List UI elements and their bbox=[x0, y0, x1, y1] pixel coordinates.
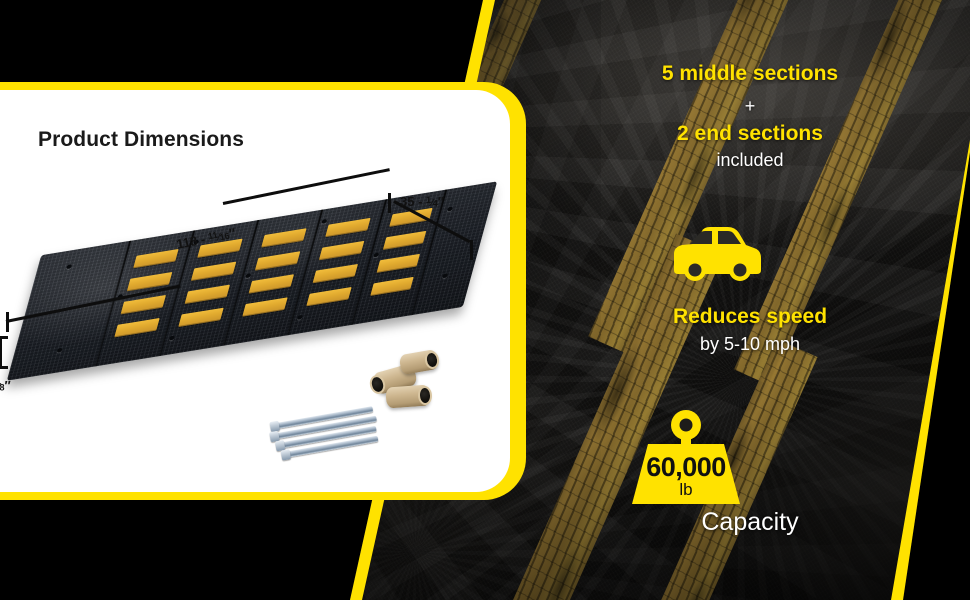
dim-label-height: 1 - 7⁄8″ bbox=[0, 378, 11, 393]
dim-length-numerator: 11 bbox=[207, 229, 218, 241]
dim-height-unit: ″ bbox=[5, 378, 11, 393]
weight-icon: 60,000 lb bbox=[620, 408, 752, 510]
dim-width-fraction: 1⁄4 bbox=[426, 196, 438, 209]
speed-headline: Reduces speed bbox=[560, 305, 940, 329]
car-icon bbox=[666, 218, 766, 288]
sections-headline-end: 2 end sections bbox=[560, 122, 940, 146]
dim-width-numerator: 1 bbox=[426, 195, 431, 205]
plus-symbol: + bbox=[560, 96, 940, 117]
infographic-canvas: Product Dimensions bbox=[0, 0, 970, 600]
dim-tick-width-right bbox=[470, 240, 473, 260]
capacity-unit: lb bbox=[620, 480, 752, 500]
product-photo: 118 - 11⁄16″ 35 - 1⁄4″ 1 - 7⁄8″ bbox=[0, 90, 510, 492]
steel-spike-hardware bbox=[267, 400, 391, 464]
dim-line-length bbox=[223, 168, 390, 205]
dim-tick-height-bottom bbox=[0, 366, 8, 369]
tube-opening bbox=[417, 386, 432, 406]
dim-line-height bbox=[0, 336, 2, 368]
dim-label-width: 35 - 1⁄4″ bbox=[400, 194, 444, 209]
included-label: included bbox=[560, 150, 940, 171]
dim-width-whole: 35 - bbox=[400, 194, 426, 209]
dim-tick-length-right bbox=[388, 193, 391, 213]
capacity-value: 60,000 bbox=[620, 452, 752, 483]
sections-headline-middle: 5 middle sections bbox=[560, 62, 940, 86]
speed-detail: by 5-10 mph bbox=[560, 334, 940, 355]
capacity-label: Capacity bbox=[560, 508, 940, 537]
dim-width-unit: ″ bbox=[438, 194, 444, 209]
spike-head bbox=[281, 449, 292, 460]
product-dimensions-card: Product Dimensions bbox=[0, 90, 510, 492]
